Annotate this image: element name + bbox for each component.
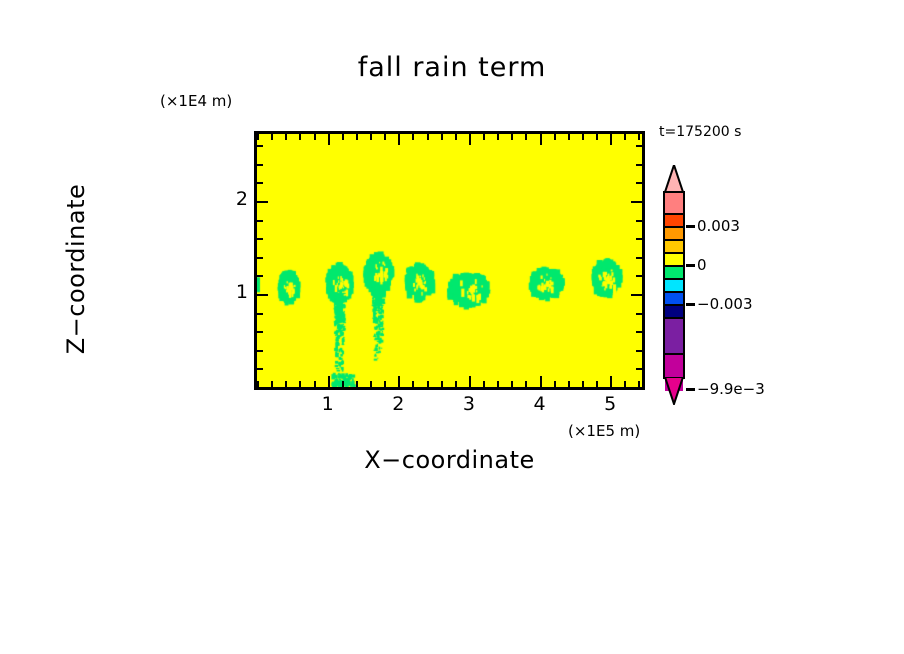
y-minor-tick xyxy=(257,387,263,389)
x-major-tick-top xyxy=(610,134,612,145)
x-minor-tick xyxy=(441,381,443,387)
y-minor-tick xyxy=(257,275,263,277)
x-minor-tick xyxy=(455,381,457,387)
colorbar-band xyxy=(665,319,683,355)
x-minor-tick-top xyxy=(568,134,570,140)
x-major-tick xyxy=(328,376,330,387)
x-minor-tick xyxy=(511,381,513,387)
y-minor-tick-right xyxy=(636,164,642,166)
colorbar-tick-label: −0.003 xyxy=(697,295,753,313)
x-minor-tick xyxy=(384,381,386,387)
y-minor-tick xyxy=(257,313,263,315)
y-minor-tick-right xyxy=(636,350,642,352)
colorbar-band xyxy=(665,215,683,228)
y-minor-tick-right xyxy=(636,368,642,370)
x-minor-tick-top xyxy=(511,134,513,140)
y-tick-label: 2 xyxy=(218,188,248,210)
colorbar-band xyxy=(665,254,683,267)
x-major-tick xyxy=(610,376,612,387)
x-major-tick-top xyxy=(540,134,542,145)
y-minor-tick-right xyxy=(636,331,642,333)
x-minor-tick xyxy=(412,381,414,387)
x-minor-tick xyxy=(568,381,570,387)
y-minor-tick-right xyxy=(636,182,642,184)
y-major-tick xyxy=(257,294,268,296)
x-minor-tick xyxy=(525,381,527,387)
x-minor-tick-top xyxy=(525,134,527,140)
x-minor-tick xyxy=(483,381,485,387)
y-minor-tick xyxy=(257,182,263,184)
x-minor-tick xyxy=(370,381,372,387)
x-axis-unit-label: (×1E5 m) xyxy=(568,422,640,440)
x-major-tick-top xyxy=(328,134,330,145)
colorbar-tick xyxy=(686,225,695,228)
x-minor-tick-top xyxy=(342,134,344,140)
x-minor-tick-top xyxy=(455,134,457,140)
colorbar-band xyxy=(665,306,683,319)
x-tick-label: 3 xyxy=(454,393,484,415)
x-minor-tick-top xyxy=(370,134,372,140)
y-axis-title: Z−coordinate xyxy=(62,129,90,409)
y-minor-tick xyxy=(257,220,263,222)
colorbar-tick xyxy=(686,264,695,267)
x-minor-tick-top xyxy=(314,134,316,140)
y-major-tick xyxy=(257,201,268,203)
x-minor-tick xyxy=(271,381,273,387)
colorbar-bands xyxy=(663,191,685,379)
y-axis-unit-label: (×1E4 m) xyxy=(160,92,232,110)
x-tick-label: 4 xyxy=(525,393,555,415)
x-major-tick xyxy=(540,376,542,387)
y-minor-tick xyxy=(257,257,263,259)
x-tick-label: 1 xyxy=(313,393,343,415)
colorbar-tick-label: 0 xyxy=(697,256,707,274)
x-minor-tick-top xyxy=(638,134,640,140)
x-major-tick-top xyxy=(469,134,471,145)
y-minor-tick-right xyxy=(636,220,642,222)
y-minor-tick xyxy=(257,368,263,370)
x-minor-tick-top xyxy=(624,134,626,140)
x-minor-tick xyxy=(624,381,626,387)
x-minor-tick xyxy=(285,381,287,387)
y-minor-tick-right xyxy=(636,257,642,259)
colorbar-arrow-bottom xyxy=(663,377,685,403)
x-minor-tick-top xyxy=(299,134,301,140)
x-major-tick-top xyxy=(398,134,400,145)
heatmap-canvas xyxy=(257,134,642,387)
colorbar-tick-label: 0.003 xyxy=(697,217,740,235)
colorbar-tick xyxy=(686,303,695,306)
x-tick-label: 5 xyxy=(595,393,625,415)
y-minor-tick xyxy=(257,238,263,240)
colorbar-tick-label: −9.9e−3 xyxy=(697,380,765,398)
colorbar-band xyxy=(665,280,683,293)
x-tick-label: 2 xyxy=(383,393,413,415)
x-minor-tick-top xyxy=(412,134,414,140)
timestamp-label: t=175200 s xyxy=(659,124,741,140)
colorbar-band xyxy=(665,193,683,215)
x-minor-tick xyxy=(497,381,499,387)
y-minor-tick-right xyxy=(636,387,642,389)
colorbar-band xyxy=(665,293,683,306)
x-minor-tick-top xyxy=(483,134,485,140)
y-major-tick-right xyxy=(631,294,642,296)
x-major-tick xyxy=(398,376,400,387)
x-minor-tick-top xyxy=(356,134,358,140)
y-minor-tick xyxy=(257,164,263,166)
y-minor-tick xyxy=(257,350,263,352)
y-minor-tick-right xyxy=(636,238,642,240)
y-minor-tick-right xyxy=(636,313,642,315)
x-minor-tick-top xyxy=(596,134,598,140)
x-minor-tick xyxy=(356,381,358,387)
x-minor-tick-top xyxy=(441,134,443,140)
x-minor-tick-top xyxy=(271,134,273,140)
x-minor-tick-top xyxy=(257,134,259,140)
page-title: fall rain term xyxy=(0,52,904,83)
colorbar-band xyxy=(665,267,683,280)
y-minor-tick-right xyxy=(636,275,642,277)
x-minor-tick xyxy=(299,381,301,387)
x-minor-tick xyxy=(342,381,344,387)
y-tick-label: 1 xyxy=(218,281,248,303)
y-major-tick-right xyxy=(631,201,642,203)
x-minor-tick-top xyxy=(427,134,429,140)
x-major-tick xyxy=(469,376,471,387)
x-minor-tick-top xyxy=(497,134,499,140)
colorbar xyxy=(663,165,685,405)
colorbar-tick xyxy=(686,388,695,391)
colorbar-band xyxy=(665,228,683,241)
colorbar-arrow-top xyxy=(663,165,685,191)
x-minor-tick xyxy=(314,381,316,387)
y-minor-tick-right xyxy=(636,145,642,147)
x-minor-tick xyxy=(427,381,429,387)
x-minor-tick xyxy=(596,381,598,387)
colorbar-band xyxy=(665,241,683,254)
x-minor-tick xyxy=(554,381,556,387)
plot-area xyxy=(254,131,645,390)
x-minor-tick-top xyxy=(384,134,386,140)
x-minor-tick-top xyxy=(285,134,287,140)
x-axis-title: X−coordinate xyxy=(252,446,647,474)
x-minor-tick xyxy=(582,381,584,387)
y-minor-tick xyxy=(257,331,263,333)
x-minor-tick-top xyxy=(582,134,584,140)
y-minor-tick xyxy=(257,145,263,147)
x-minor-tick-top xyxy=(554,134,556,140)
